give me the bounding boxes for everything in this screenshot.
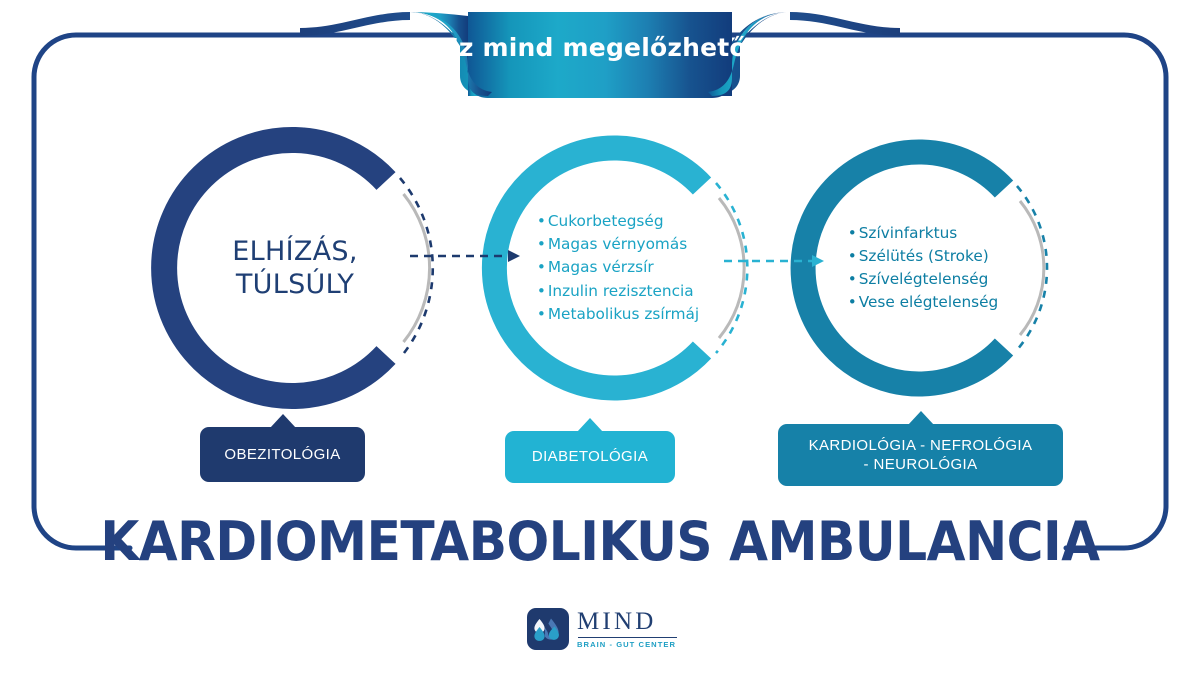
badge-label: OBEZITOLÓGIA — [224, 445, 340, 464]
list-item-label: Cukorbetegség — [548, 212, 664, 230]
bullet-icon: • — [537, 256, 548, 279]
list-item: •Inzulin rezisztencia — [537, 280, 699, 303]
bullet-icon: • — [537, 210, 548, 233]
list-item-label: Szélütés (Stroke) — [859, 247, 989, 265]
badge-label-line-2: - NEUROLÓGIA — [809, 455, 1033, 474]
list-item-label: Vese elégtelenség — [859, 293, 999, 311]
bullet-icon: • — [848, 222, 859, 245]
list-item-label: Metabolikus zsírmáj — [548, 305, 699, 323]
bullet-icon: • — [537, 280, 548, 303]
cardio-bullet-list: •Szívinfarktus •Szélütés (Stroke) •Szíve… — [848, 222, 999, 315]
badge-pointer-icon — [270, 414, 296, 428]
badge-label: DIABETOLÓGIA — [532, 447, 648, 466]
mind-logo-wordmark: MIND — [577, 609, 677, 634]
list-item: •Szívinfarktus — [848, 222, 999, 245]
mind-logo-mark-icon — [527, 608, 569, 650]
list-item-label: Szívinfarktus — [859, 224, 958, 242]
list-item: •Szélütés (Stroke) — [848, 245, 999, 268]
list-item: •Magas vérnyomás — [537, 233, 699, 256]
list-item-label: Magas vérnyomás — [548, 235, 687, 253]
obesity-title: ELHÍZÁS, TÚLSÚLY — [232, 235, 357, 302]
page-title: KARDIOMETABOLIKUS AMBULANCIA — [42, 510, 1158, 573]
list-item: •Vese elégtelenség — [848, 291, 999, 314]
badge-obezitologia[interactable]: OBEZITOLÓGIA — [200, 427, 365, 482]
list-item: •Magas vérzsír — [537, 256, 699, 279]
mind-logo-tagline: BRAIN - GUT CENTER — [577, 640, 677, 649]
list-item-label: Inzulin rezisztencia — [548, 282, 694, 300]
mind-logo-divider — [578, 637, 677, 638]
diabetology-bullet-list: •Cukorbetegség •Magas vérnyomás •Magas v… — [537, 210, 699, 326]
badge-diabetologia[interactable]: DIABETOLÓGIA — [505, 431, 675, 483]
bullet-icon: • — [848, 291, 859, 314]
arrow-diabetes-to-cardio — [722, 248, 832, 274]
infographic-canvas: Ez mind megelőzhető! ELHÍZÁS, TÚLSÚLY •C — [0, 0, 1200, 675]
badge-pointer-icon — [908, 411, 934, 425]
bullet-icon: • — [848, 268, 859, 291]
obesity-title-line-1: ELHÍZÁS, — [232, 235, 357, 268]
badge-label-line-1: KARDIOLÓGIA - NEFROLÓGIA — [809, 436, 1033, 455]
bullet-icon: • — [848, 245, 859, 268]
list-item: •Szívelégtelenség — [848, 268, 999, 291]
mind-logo: MIND BRAIN - GUT CENTER — [527, 608, 687, 664]
bullet-icon: • — [537, 233, 548, 256]
list-item: •Cukorbetegség — [537, 210, 699, 233]
mind-logo-text: MIND BRAIN - GUT CENTER — [577, 608, 677, 649]
banner-title: Ez mind megelőzhető! — [300, 33, 900, 62]
arrow-obesity-to-diabetes — [408, 243, 528, 269]
badge-pointer-icon — [577, 418, 603, 432]
list-item-label: Szívelégtelenség — [859, 270, 989, 288]
badge-label-block: KARDIOLÓGIA - NEFROLÓGIA - NEUROLÓGIA — [809, 436, 1033, 474]
obesity-title-line-2: TÚLSÚLY — [232, 268, 357, 301]
bullet-icon: • — [537, 303, 548, 326]
list-item-label: Magas vérzsír — [548, 258, 654, 276]
badge-kardiologia-nefrologia-neurologia[interactable]: KARDIOLÓGIA - NEFROLÓGIA - NEUROLÓGIA — [778, 424, 1063, 486]
stage-circle-obesity: ELHÍZÁS, TÚLSÚLY — [145, 118, 445, 418]
list-item: •Metabolikus zsírmáj — [537, 303, 699, 326]
obesity-label-wrap: ELHÍZÁS, TÚLSÚLY — [145, 118, 445, 418]
